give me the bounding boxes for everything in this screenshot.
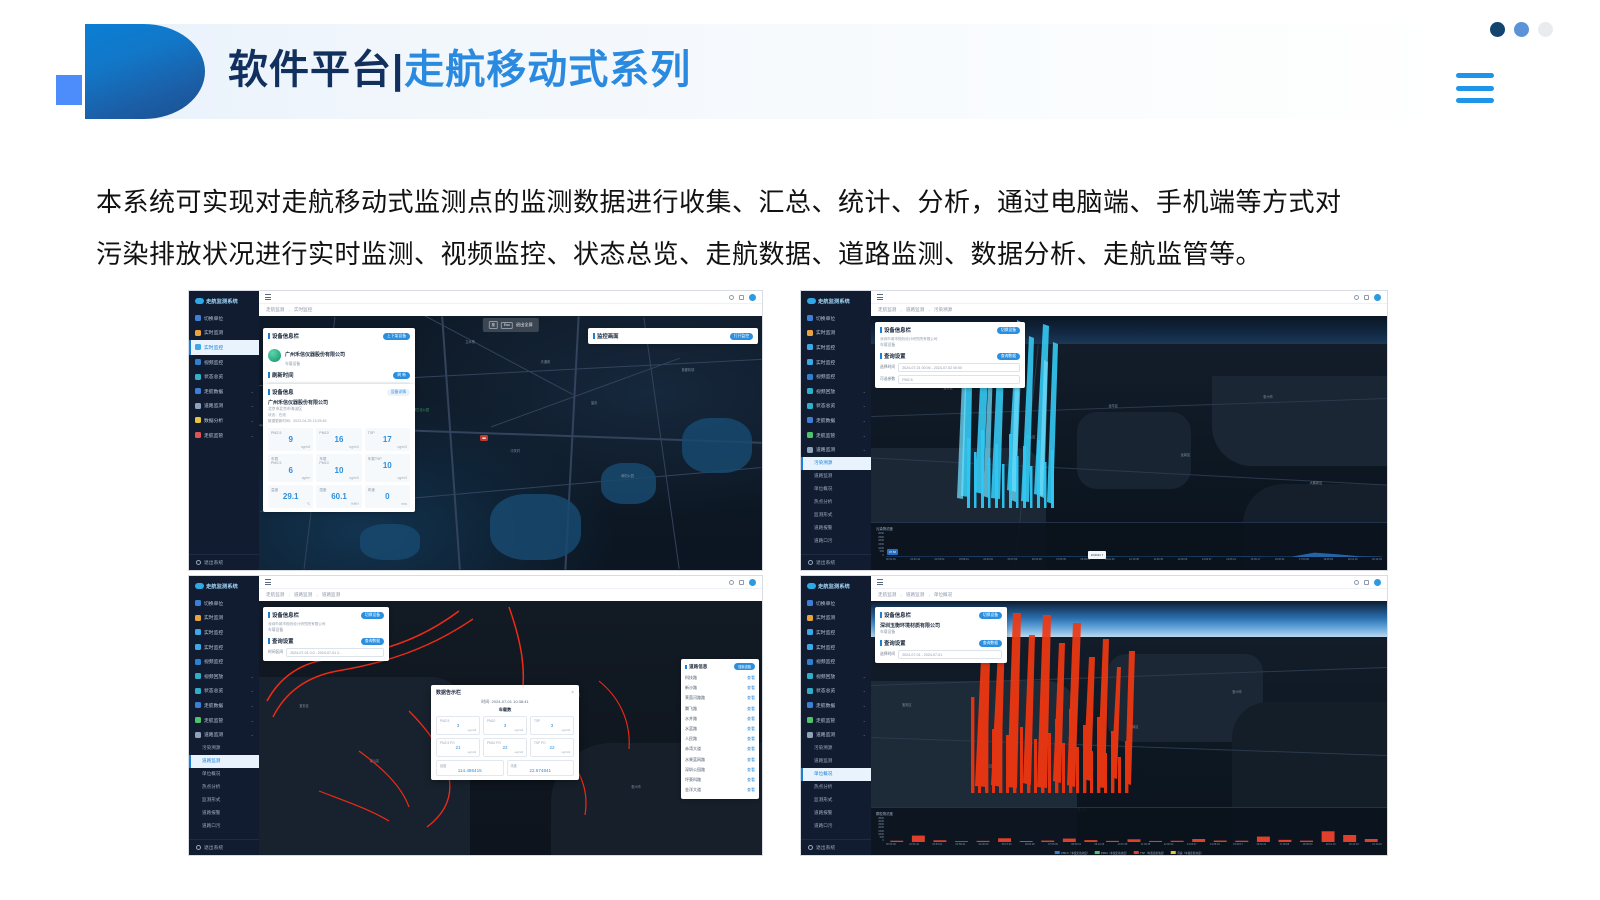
sidebar-subitem-1[interactable]: 道路监测	[189, 755, 259, 768]
sidebar-item-label: 状态总览	[816, 687, 835, 694]
breadcrumb-item[interactable]: 走航监测	[878, 307, 896, 313]
road-icon	[195, 403, 201, 409]
x-tick: 20:12:33	[1349, 843, 1359, 850]
query-settings-title: 查询设置	[880, 352, 906, 360]
dialog-coord-cell: 经度114.486415	[436, 760, 504, 776]
topbar	[871, 291, 1387, 304]
toggle-device-button[interactable]: 上下架设备	[383, 333, 410, 340]
area-series	[886, 553, 1382, 557]
sidebar-subitem-0[interactable]: 污染溯源	[801, 457, 871, 470]
breadcrumb-item[interactable]: 走航监测	[878, 592, 896, 598]
sidebar-subitem-6[interactable]: 道路口污	[189, 820, 259, 833]
road-list-item[interactable]: 莱茵河路路查看	[685, 693, 755, 703]
sidebar-item-0[interactable]: 切换单位	[801, 311, 871, 326]
road-list-item[interactable]: 金洋大道查看	[685, 785, 755, 795]
camera-icon	[195, 659, 201, 665]
sidebar-item-7[interactable]: 走航数据⌄	[801, 413, 871, 428]
chevron-down-icon: ⌄	[863, 718, 866, 723]
sidebar-menu: 切换单位实时监测实时监控视频监控状态总览走航数据⌄道路监测⌄数据分析⌄走航监管⌄	[189, 311, 259, 554]
sidebar-subitem-0[interactable]: 污染溯源	[801, 742, 871, 755]
road-view-link[interactable]: 查看	[747, 695, 755, 701]
bar-series-item	[1171, 841, 1184, 842]
road-list-item[interactable]: 水果蓝网路查看	[685, 755, 755, 765]
breadcrumb-item[interactable]: 道路监测	[906, 307, 924, 313]
cloud-icon	[195, 615, 201, 621]
bar-series-item	[1365, 839, 1378, 842]
sidebar-menu: 切换单位实时监测实时监控实时监控视频监控视频回放⌄状态总览⌄走航数据⌄走航监管⌄…	[801, 311, 871, 554]
metric-unit: ug/m3	[319, 445, 358, 449]
time-range-input[interactable]: 2024-07-01 00:00 - 2024-07-02 00:00	[898, 363, 1020, 372]
refresh-icon[interactable]	[729, 580, 734, 585]
bar-series-item	[1257, 837, 1270, 842]
chart-y-axis: 3500300025002000150010005000	[875, 817, 884, 842]
sidebar-item-6[interactable]: 状态总览⌄	[189, 684, 259, 699]
road-view-link[interactable]: 查看	[747, 685, 755, 691]
sidebar-item-label: 状态总览	[204, 373, 223, 380]
car-icon	[807, 417, 813, 423]
query-data-button[interactable]: 查询数据	[997, 353, 1020, 360]
collapse-menu-icon[interactable]	[265, 579, 271, 584]
chart-value-badge: 37.56	[887, 549, 898, 555]
camera-icon	[807, 659, 813, 665]
sidebar-subitem-label: 单位概况	[202, 771, 220, 777]
road-list-item[interactable]: 腾飞路查看	[685, 704, 755, 714]
switch-device-button[interactable]: 切换设备	[979, 612, 1002, 619]
sidebar-subitem-4[interactable]: 监测形式	[801, 794, 871, 807]
sidebar-item-label: 实时监测	[204, 614, 223, 621]
sidebar-subitem-3[interactable]: 热点分析	[801, 781, 871, 794]
video-icon	[807, 644, 813, 650]
logout-label: 退出系统	[816, 559, 835, 566]
sidebar-item-7[interactable]: 数据分析⌄	[189, 413, 259, 428]
dialog-coord-value: 22.574841	[511, 768, 571, 773]
x-tick: 06:00:28	[1032, 558, 1042, 565]
switch-device-button[interactable]: 切换设备	[997, 327, 1020, 334]
x-tick: 19:12:19	[1348, 558, 1358, 565]
dialog-metric-unit: ug/m3	[534, 728, 570, 732]
avatar[interactable]	[1374, 579, 1381, 586]
sidebar-subitem-4[interactable]: 监测形式	[189, 794, 259, 807]
sidebar-item-5[interactable]: 视频回放⌄	[801, 384, 871, 399]
map3d-canvas[interactable]: 宝安区 南山区 龙岗区 惠州市 珠江口	[871, 601, 1387, 855]
globe-icon	[807, 403, 813, 409]
metric-cell: 温度29.1℃	[268, 485, 313, 508]
screenshot-realtime-monitor[interactable]: 走航监测系统 切换单位实时监测实时监控视频监控状态总览走航数据⌄道路监测⌄数据分…	[188, 290, 763, 571]
sidebar-item-0[interactable]: 切换单位	[189, 311, 259, 326]
sidebar: 走航监测系统 切换单位实时监测实时监控视频监控状态总览走航数据⌄道路监测⌄数据分…	[189, 291, 259, 570]
breadcrumb-item[interactable]: 道路监测	[294, 592, 312, 598]
road-view-link[interactable]: 查看	[747, 787, 755, 793]
map3d-canvas[interactable]: 宝安区 南山区 龙华区 龙岗区 惠州市 大鹏新区	[871, 316, 1387, 570]
sidebar-item-9[interactable]: 道路监测⌄	[189, 727, 259, 742]
sidebar-item-4[interactable]: 视频监控	[801, 369, 871, 384]
chart-legend: PM2.5（车载走航浓度）PM10（车载走航浓度）TSP（车载走航浓度）风速（车…	[1055, 851, 1204, 855]
x-tick: 00:52:00	[886, 843, 896, 850]
company-logo-icon	[268, 349, 281, 362]
timeline-chart[interactable]: 颗粒物浓度 3500300025002000150010005000 00:52…	[871, 807, 1387, 855]
dialog-timestamp: 时间: 2024-07-01 10:38:41	[436, 699, 574, 705]
sidebar-item-6[interactable]: 状态总览⌄	[801, 684, 871, 699]
breadcrumb-separator: ›	[928, 593, 930, 598]
time-range-input[interactable]: 2024-07-01 - 2024-07-01	[898, 650, 1002, 659]
avatar[interactable]	[1374, 294, 1381, 301]
sidebar-item-label: 实时监控	[816, 644, 835, 651]
road-list-item[interactable]: 人民路查看	[685, 734, 755, 744]
dialog-metric-unit: ug/m3	[487, 750, 523, 754]
metric-value: 9	[271, 436, 310, 445]
sidebar-subitem-label: 道路报警	[814, 810, 832, 816]
sidebar-item-4[interactable]: 状态总览	[189, 369, 259, 384]
y-tick: 2000	[878, 539, 884, 542]
breadcrumb-separator: ›	[288, 593, 290, 598]
road-name: 深圳公园路	[685, 767, 705, 773]
video-icon	[195, 344, 201, 350]
query-data-button[interactable]: 查询数据	[979, 640, 1002, 647]
bar-series-item	[933, 840, 946, 842]
x-tick: 10:15:38	[1118, 843, 1128, 850]
chart-plot-area	[886, 532, 1382, 557]
road-list-item[interactable]: 赤湾大道查看	[685, 744, 755, 754]
sidebar-item-logout[interactable]: 退出系统	[801, 554, 871, 570]
breadcrumb-item[interactable]: 走航监测	[266, 307, 284, 313]
screenshot-road-monitor[interactable]: 走航监测系统 切换单位实时监测实时监控实时监控视频监控视频回放⌄状态总览⌄走航数…	[188, 575, 763, 856]
sidebar-item-4[interactable]: 视频监控	[801, 654, 871, 669]
sidebar-item-label: 道路监测	[816, 731, 835, 738]
sidebar-item-label: 状态总览	[204, 687, 223, 694]
road-view-link[interactable]: 查看	[747, 777, 755, 783]
breadcrumb: 走航监测›道路监测›单位概况	[871, 589, 1387, 601]
sidebar-item-1[interactable]: 实时监测	[801, 326, 871, 341]
search-road-button[interactable]: 搜索道路	[734, 663, 755, 670]
data-board-dialog[interactable]: 数据告示栏 × 时间: 2024-07-01 10:38:41 车载数 PM2.…	[431, 685, 579, 780]
metric-value: 29.1	[271, 493, 310, 502]
sidebar-item-label: 走航数据	[816, 417, 835, 424]
metric-grid: PM2.59ug/m3PM1016ug/m3TSP17ug/m3车载 PM2.5…	[268, 428, 410, 508]
sidebar-item-label: 视频回放	[816, 673, 835, 680]
sidebar-item-5[interactable]: 视频回放⌄	[189, 669, 259, 684]
legend-entry[interactable]: 风速（车载走航浓度）	[1171, 851, 1203, 855]
open-video-button[interactable]: 打开监控	[730, 333, 753, 340]
sidebar-subitem-5[interactable]: 道路报警	[189, 807, 259, 820]
video-monitor-card[interactable]: 监控画面 打开监控	[588, 328, 758, 344]
bar-series-item	[1149, 841, 1162, 842]
hamburger-menu-icon[interactable]	[1456, 73, 1494, 103]
device-type: 车载设备	[880, 630, 1002, 635]
chart-x-axis: 00:52:0001:54:4402:53:0403:58:4404:00:00…	[886, 843, 1382, 850]
collapse-menu-icon[interactable]	[265, 294, 271, 299]
sidebar-item-5[interactable]: 视频回放⌄	[801, 669, 871, 684]
x-tick: 03:58:44	[955, 843, 965, 850]
sidebar-item-label: 走航监管	[204, 717, 223, 724]
road-list-item[interactable]: 坪葵科路查看	[685, 775, 755, 785]
time-range-label: 选择时间	[880, 652, 895, 657]
breadcrumb-item[interactable]: 道路监测	[322, 592, 340, 598]
refresh-icon[interactable]	[729, 295, 734, 300]
sidebar-item-label: 走航数据	[204, 702, 223, 709]
fullscreen-icon[interactable]	[1364, 580, 1369, 585]
company-name: 深圳市城市规划设计研究院有限公司	[880, 337, 1020, 342]
sidebar-item-8[interactable]: 走航监管⌄	[189, 713, 259, 728]
chevron-down-icon: ⌄	[251, 389, 254, 394]
road-list-item[interactable]: 科技路查看	[685, 673, 755, 683]
metric-unit: ug/m3	[319, 476, 358, 480]
sidebar-item-1[interactable]: 实时监测	[801, 611, 871, 626]
sidebar-item-2[interactable]: 实时监控	[189, 625, 259, 640]
breadcrumb-separator: ›	[900, 308, 902, 313]
sidebar-subitem-6[interactable]: 道路口污	[801, 820, 871, 833]
legend-swatch	[1134, 851, 1139, 854]
detail-company-name: 广州禾信仪器股份有限公司	[268, 399, 410, 406]
screenshot-pollution-trace-cyan[interactable]: 走航监测系统 切换单位实时监测实时监控实时监控视频监控视频回放⌄状态总览⌄走航数…	[800, 290, 1388, 571]
sidebar-item-9[interactable]: 道路监测⌄	[801, 727, 871, 742]
topbar	[871, 576, 1387, 589]
fullscreen-icon[interactable]	[739, 295, 744, 300]
sidebar-item-0[interactable]: 切换单位	[189, 596, 259, 611]
refresh-icon[interactable]	[1354, 295, 1359, 300]
sidebar-item-6[interactable]: 状态总览⌄	[801, 399, 871, 414]
chevron-down-icon: ⌄	[863, 732, 866, 737]
road-view-link[interactable]: 查看	[747, 675, 755, 681]
sidebar-item-7[interactable]: 走航数据⌄	[189, 698, 259, 713]
sidebar-subitem-label: 道路口污	[202, 823, 220, 829]
collapse-menu-icon[interactable]	[877, 579, 883, 584]
device-query-card[interactable]: 设备信息栏 切换设备 深圳玉衡环境材质有限公司 车载设备 查询设置 查询数据 选…	[875, 607, 1007, 663]
chevron-down-icon: ⌄	[251, 688, 254, 693]
road-view-link[interactable]: 查看	[747, 716, 755, 722]
sidebar-item-4[interactable]: 视频监控	[189, 654, 259, 669]
sidebar-item-2[interactable]: 实时监控	[801, 340, 871, 355]
switch-device-button[interactable]: 切换设备	[361, 612, 384, 619]
sidebar-item-8[interactable]: 走航监管⌄	[801, 713, 871, 728]
breadcrumb-item[interactable]: 道路监测	[906, 592, 924, 598]
legend-entry[interactable]: PM10（车载走航浓度）	[1094, 851, 1128, 855]
sidebar-item-8[interactable]: 走航监管⌄	[801, 428, 871, 443]
avatar[interactable]	[749, 579, 756, 586]
device-query-card[interactable]: 设备信息栏 切换设备 深圳市城市规划设计研究院有限公司 车载设备 查询设置 查询…	[263, 607, 389, 661]
road-icon	[807, 732, 813, 738]
avatar[interactable]	[749, 294, 756, 301]
globe-icon	[195, 374, 201, 380]
sidebar-item-3[interactable]: 实时监控	[801, 640, 871, 655]
device-query-card[interactable]: 设备信息栏 切换设备 深圳市城市规划设计研究院有限公司 车载设备 查询设置 查询…	[875, 322, 1025, 388]
sidebar-item-3[interactable]: 实时监控	[801, 355, 871, 370]
sidebar-subitem-4[interactable]: 监测形式	[801, 509, 871, 522]
sidebar-subitem-label: 污染溯源	[814, 460, 832, 466]
metric-value: 16	[319, 436, 358, 445]
road-icon	[195, 732, 201, 738]
collapse-menu-icon[interactable]	[877, 294, 883, 299]
sidebar-item-logout[interactable]: 退出系统	[189, 554, 259, 570]
sidebar-item-2[interactable]: 实时监控	[801, 625, 871, 640]
dialog-title: 数据告示栏	[436, 689, 461, 696]
bar-series-item	[1041, 841, 1054, 842]
device-info-title: 设备信息栏	[880, 326, 911, 334]
x-tick: 18:05:00	[1323, 558, 1333, 565]
map-canvas[interactable]: 宝安区 南山区 福田区 龙岗区 惠州市	[259, 601, 762, 855]
device-detail-button[interactable]: 设备详情	[387, 389, 410, 396]
fullscreen-icon[interactable]	[739, 580, 744, 585]
road-list-item[interactable]: 水蓝路查看	[685, 724, 755, 734]
sidebar-subitem-1[interactable]: 道路监测	[801, 755, 871, 768]
bar-series-item	[1278, 840, 1291, 842]
query-data-button[interactable]: 查询数据	[361, 638, 384, 645]
cloud-logo-icon	[195, 298, 204, 304]
sidebar-item-2[interactable]: 实时监控	[189, 340, 259, 355]
x-tick: 12:00:02	[1178, 558, 1188, 565]
sidebar-item-6[interactable]: 道路监测⌄	[189, 399, 259, 414]
metric-cell: TSP17ug/m3	[365, 428, 410, 451]
sidebar-subitem-2[interactable]: 单位概况	[189, 768, 259, 781]
dialog-metric-unit: ug/m3	[440, 750, 476, 754]
power-icon	[808, 560, 813, 565]
cloud-logo-icon	[807, 298, 816, 304]
sidebar-item-0[interactable]: 切换单位	[801, 596, 871, 611]
device-detail-card[interactable]: 设备信息 设备详情 广州禾信仪器股份有限公司 北京市北京市海淀区 状态：在线 数…	[263, 384, 415, 512]
sidebar-item-label: 实时监测	[816, 614, 835, 621]
header-accent-square	[56, 75, 82, 105]
dialog-metric-cell: PM103ug/m3	[483, 716, 527, 735]
sidebar-item-1[interactable]: 实时监测	[189, 326, 259, 341]
bar-series-item	[998, 838, 1011, 842]
road-list-item[interactable]: 新沙路查看	[685, 683, 755, 693]
sidebar-subitem-5[interactable]: 道路报警	[801, 807, 871, 820]
road-view-link[interactable]: 查看	[747, 706, 755, 712]
chevron-down-icon: ⌄	[863, 433, 866, 438]
fullscreen-icon[interactable]	[1364, 295, 1369, 300]
cloud-logo-icon	[807, 583, 816, 589]
sidebar-item-label: 走航监管	[816, 432, 835, 439]
metric-label: 车载 PM10	[319, 457, 358, 466]
road-name: 金洋大道	[685, 787, 701, 793]
sidebar-subitem-label: 热点分析	[814, 784, 832, 790]
screenshot-unit-overview-red[interactable]: 走航监测系统 切换单位实时监测实时监控实时监控视频监控视频回放⌄状态总览⌄走航数…	[800, 575, 1388, 856]
road-list-card[interactable]: 道路信息 搜索道路 科技路查看新沙路查看莱茵河路路查看腾飞路查看水井路查看水蓝路…	[681, 659, 759, 799]
sidebar-item-5[interactable]: 走航数据⌄	[189, 384, 259, 399]
sidebar-item-7[interactable]: 走航数据⌄	[801, 698, 871, 713]
close-icon[interactable]: ×	[571, 690, 574, 696]
sidebar-item-label: 走航数据	[204, 388, 223, 395]
bar-series-item	[1300, 841, 1313, 842]
sidebar-subitem-label: 热点分析	[202, 784, 220, 790]
x-tick: 07:05:35	[1056, 558, 1066, 565]
dialog-coord-grid: 经度114.486415纬度22.574841	[436, 760, 574, 776]
road-view-link[interactable]: 查看	[747, 757, 755, 763]
breadcrumb-item[interactable]: 走航监测	[266, 592, 284, 598]
device-info-title: 设备信息栏	[880, 611, 911, 619]
breadcrumb-item[interactable]: 污染溯源	[934, 307, 952, 313]
sidebar-item-label: 实时监控	[816, 629, 835, 636]
metric-unit: m/s	[368, 502, 407, 506]
refresh-button[interactable]: 刷 新	[393, 372, 410, 379]
sidebar-subitem-5[interactable]: 道路报警	[801, 522, 871, 535]
timeline-chart[interactable]: 污染物浓度 300025002000150010005000 00:52:000…	[871, 522, 1387, 570]
metric-value: 10	[368, 462, 407, 471]
dialog-metric-unit: ug/m3	[534, 750, 570, 754]
sidebar-subitem-label: 道路监测	[814, 473, 832, 479]
sidebar-subitem-1[interactable]: 道路监测	[801, 470, 871, 483]
hint-key-esc: Esc	[501, 322, 513, 329]
fullscreen-hint: 按 Esc 退出全屏	[482, 318, 538, 332]
breadcrumb-item[interactable]: 单位概况	[934, 592, 952, 598]
sidebar-subitem-0[interactable]: 污染溯源	[189, 742, 259, 755]
metric-unit: ug/m3	[368, 476, 407, 480]
sidebar-subitem-label: 单位概况	[814, 486, 832, 492]
bar-series-item	[912, 836, 925, 842]
sidebar-item-9[interactable]: 道路监测⌄	[801, 442, 871, 457]
metric-cell: 车载TSP10ug/m3	[365, 454, 410, 482]
breadcrumb-item[interactable]: 实时监控	[294, 307, 312, 313]
param-select[interactable]: PM2.5	[898, 375, 1020, 384]
road-icon	[807, 447, 813, 453]
road-view-link[interactable]: 查看	[747, 736, 755, 742]
sidebar-item-label: 视频监控	[816, 373, 835, 380]
map-canvas[interactable]: 北苑 立水桥 天通苑 奥林匹克公园 望京 中关村 朝阳公园 北京大学 首都机场 …	[259, 316, 762, 570]
breadcrumb: 走航监测›实时监控	[259, 304, 762, 316]
sidebar-subitem-3[interactable]: 热点分析	[801, 496, 871, 509]
chevron-down-icon: ⌄	[863, 389, 866, 394]
road-name: 坪葵科路	[685, 777, 701, 783]
chevron-down-icon: ⌄	[863, 418, 866, 423]
x-tick: 08:09:01	[1081, 558, 1091, 565]
sidebar-item-label: 切换单位	[816, 600, 835, 607]
device-type: 车载设备	[285, 362, 345, 367]
time-range-input[interactable]: 2024-07-01 0:0 - 2024-07-01 2...	[286, 648, 384, 657]
x-tick: 06:00:28	[1025, 843, 1035, 850]
sidebar-item-3[interactable]: 视频监控	[189, 355, 259, 370]
road-list-item[interactable]: 水井路查看	[685, 714, 755, 724]
road-list-item[interactable]: 深圳公园路查看	[685, 765, 755, 775]
device-info-title: 设备信息栏	[268, 332, 299, 340]
road-view-link[interactable]: 查看	[747, 767, 755, 773]
legend-entry[interactable]: TSP（车载走航浓度）	[1134, 851, 1166, 855]
y-tick: 0	[883, 554, 884, 557]
hint-text: 退出全屏	[516, 322, 533, 328]
sidebar-subitem-3[interactable]: 热点分析	[189, 781, 259, 794]
x-tick: 01:54:44	[909, 843, 919, 850]
metric-cell: 风速0m/s	[365, 485, 410, 508]
app-name: 走航监测系统	[206, 297, 238, 305]
sidebar-item-logout[interactable]: 退出系统	[801, 839, 871, 855]
sidebar-item-1[interactable]: 实时监测	[189, 611, 259, 626]
x-tick: 04:00:00	[983, 558, 993, 565]
x-tick: 05:07:00	[1002, 843, 1012, 850]
dot-blue-icon	[1514, 22, 1529, 37]
road-view-link[interactable]: 查看	[747, 726, 755, 732]
sidebar-item-logout[interactable]: 退出系统	[189, 839, 259, 855]
sidebar-item-8[interactable]: 走航监管⌄	[189, 428, 259, 443]
metric-cell: 车载 PM1010ug/m3	[316, 454, 361, 482]
sidebar-subitem-2[interactable]: 单位概况	[801, 768, 871, 781]
bar-series-item	[977, 841, 990, 842]
detail-updated: 数据更新时间：2023-04-25 13:25:45	[268, 419, 410, 424]
company-name: 深圳市城市规划设计研究院有限公司	[268, 622, 384, 627]
camera-icon	[807, 374, 813, 380]
breadcrumb-separator: ›	[288, 308, 290, 313]
sidebar-item-label: 实时监控	[816, 344, 835, 351]
road-name: 莱茵河路路	[685, 695, 705, 701]
sidebar-subitem-2[interactable]: 单位概况	[801, 483, 871, 496]
x-tick: 01:54:44	[910, 558, 920, 565]
sidebar-item-3[interactable]: 实时监控	[189, 640, 259, 655]
sidebar-subitem-6[interactable]: 道路口污	[801, 535, 871, 548]
vehicle-marker[interactable]: ■■	[480, 435, 488, 441]
road-view-link[interactable]: 查看	[747, 746, 755, 752]
x-tick: 05:07:00	[1008, 558, 1018, 565]
refresh-icon[interactable]	[1354, 580, 1359, 585]
app-logo: 走航监测系统	[801, 291, 871, 311]
video-card-title: 监控画面	[593, 332, 619, 340]
legend-entry[interactable]: PM2.5（车载走航浓度）	[1055, 851, 1090, 855]
